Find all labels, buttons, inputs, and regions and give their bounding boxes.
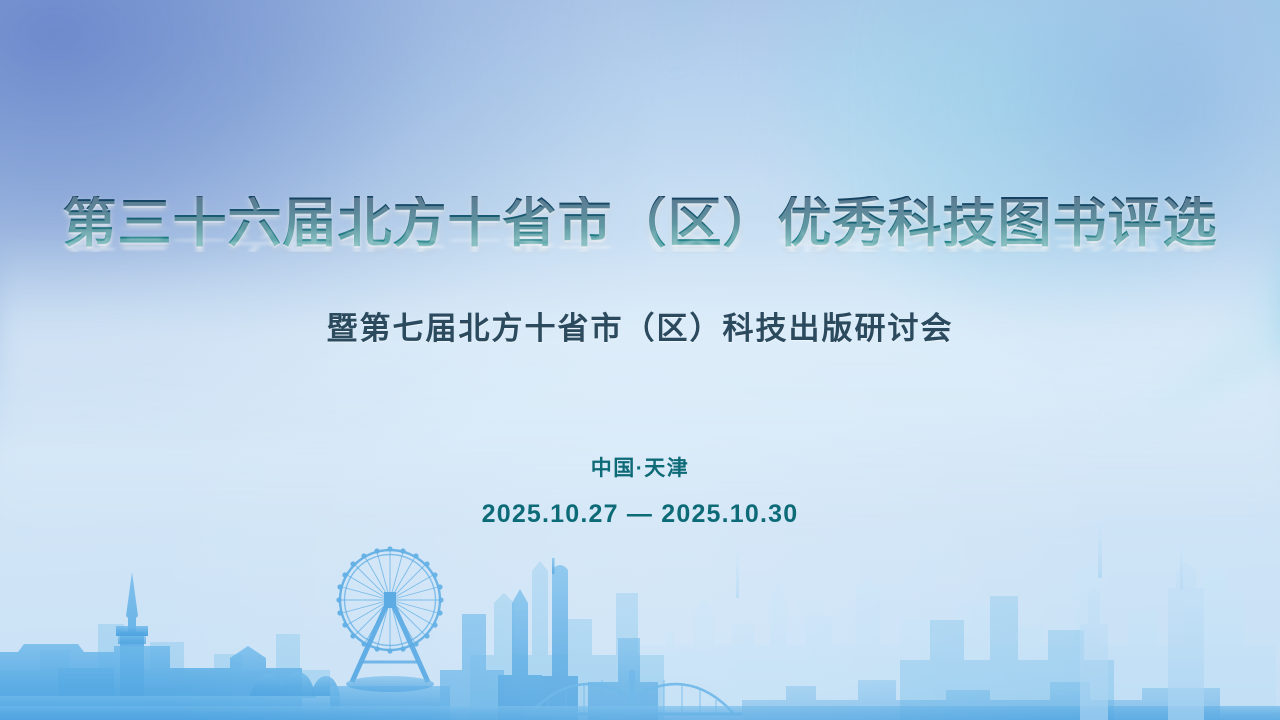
event-location: 中国·天津 [0, 452, 1280, 482]
event-date-range: 2025.10.27 — 2025.10.30 [0, 500, 1280, 529]
page-title: 第三十六届北方十省市（区）优秀科技图书评选 [63, 196, 1218, 250]
sub-title: 暨第七届北方十省市（区）科技出版研讨会 [0, 303, 1280, 348]
poster-content: 第三十六届北方十省市（区）优秀科技图书评选 第三十六届北方十省市（区）优秀科技图… [0, 0, 1280, 720]
poster-canvas: 第三十六届北方十省市（区）优秀科技图书评选 第三十六届北方十省市（区）优秀科技图… [0, 0, 1280, 720]
main-title-block: 第三十六届北方十省市（区）优秀科技图书评选 第三十六届北方十省市（区）优秀科技图… [0, 196, 1280, 250]
